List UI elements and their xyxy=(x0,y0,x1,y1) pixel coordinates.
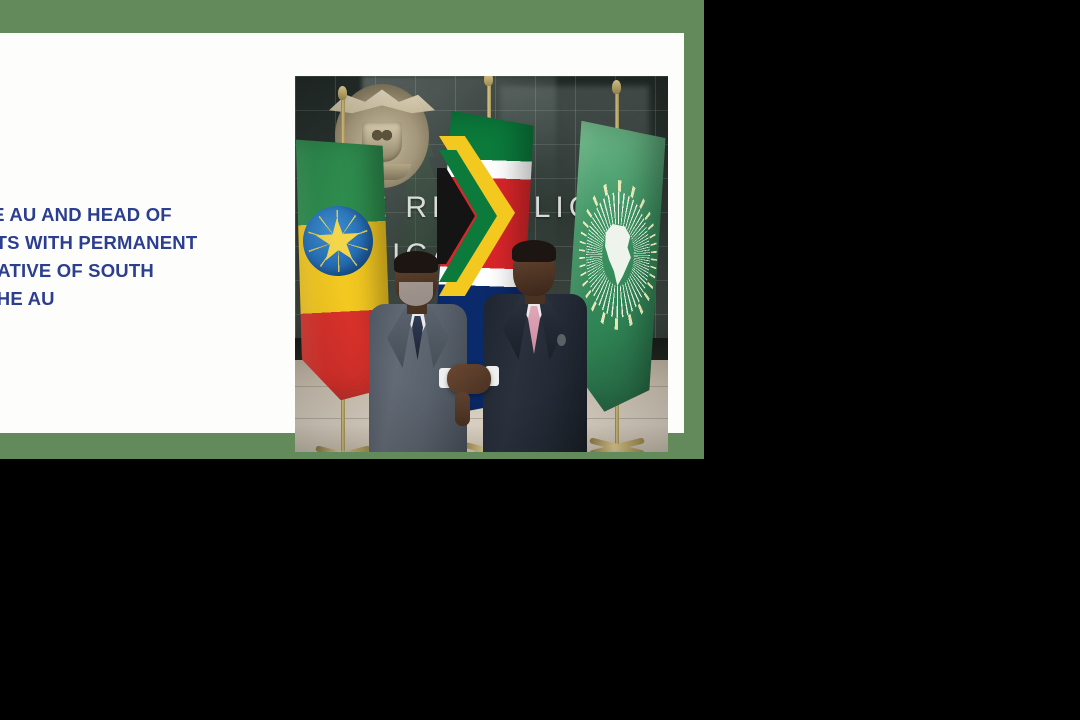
article-card: TO THE AU AND HEAD OF U MEETS WITH PERMA… xyxy=(0,33,684,433)
flag-finial-icon xyxy=(612,80,621,94)
screenshot-root: TO THE AU AND HEAD OF U MEETS WITH PERMA… xyxy=(0,0,1080,720)
headline-line-3: ESENTATIVE OF SOUTH xyxy=(0,257,286,285)
headline-line-4: A TO THE AU xyxy=(0,285,286,313)
flag-finial-icon xyxy=(484,76,493,86)
flag-stand xyxy=(315,444,371,452)
flag-stand xyxy=(589,436,645,452)
diplomat-left-beard xyxy=(399,282,433,306)
black-area-bottom xyxy=(0,459,704,720)
diplomat-right-lapel-pin xyxy=(557,334,566,346)
headline-line-2: U MEETS WITH PERMANENT xyxy=(0,229,286,257)
photo-scene: THE REPUBLIC OF AFRICA xyxy=(295,76,668,452)
black-area-right xyxy=(704,0,1080,720)
article-photo: THE REPUBLIC OF AFRICA xyxy=(295,76,668,452)
headline-line-1: TO THE AU AND HEAD OF xyxy=(0,201,286,229)
african-union-emblem-icon xyxy=(579,180,657,330)
diplomat-left-free-hand xyxy=(455,392,470,426)
diplomat-right-hair xyxy=(512,240,556,262)
headline-text: TO THE AU AND HEAD OF U MEETS WITH PERMA… xyxy=(0,201,286,313)
handshake xyxy=(447,364,491,394)
diplomat-left-hair xyxy=(394,251,438,273)
floor-tile-line xyxy=(295,418,668,419)
flag-finial-icon xyxy=(338,86,347,100)
